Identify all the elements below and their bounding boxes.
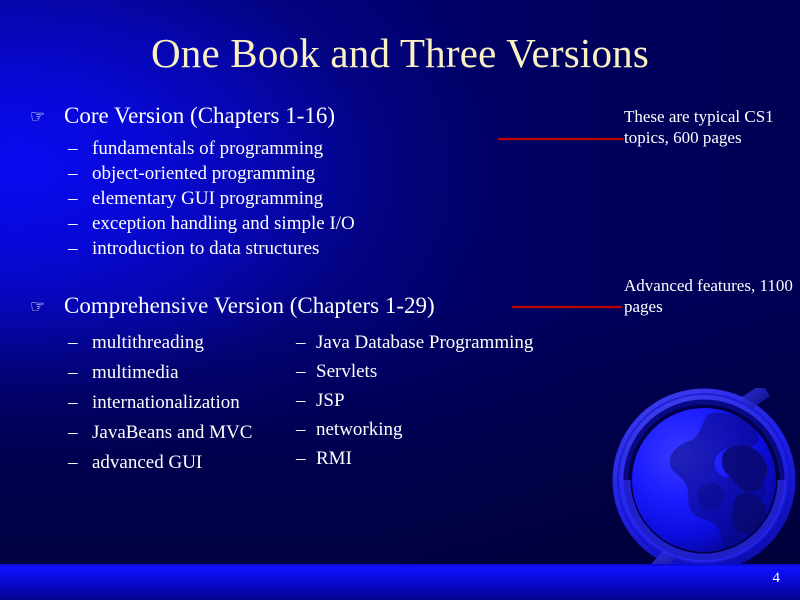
connector-line-comprehensive — [512, 306, 622, 308]
section-heading-label: Core Version (Chapters 1-16) — [64, 102, 335, 130]
section-heading-comprehensive-version: ☞ Comprehensive Version (Chapters 1-29) — [30, 292, 435, 320]
list-item: – networking — [296, 415, 533, 444]
list-item-label: advanced GUI — [92, 448, 202, 478]
list-item: – multithreading — [68, 328, 252, 358]
list-item-label: multithreading — [92, 328, 204, 358]
list-item: – exception handling and simple I/O — [68, 211, 355, 236]
footer-band — [0, 566, 800, 600]
list-item-label: introduction to data structures — [92, 236, 319, 261]
list-item-label: internationalization — [92, 388, 240, 418]
list-item: – introduction to data structures — [68, 236, 355, 261]
list-item: – internationalization — [68, 388, 252, 418]
section-heading-label: Comprehensive Version (Chapters 1-29) — [64, 292, 435, 320]
dash-icon: – — [68, 186, 78, 211]
list-item: – advanced GUI — [68, 448, 252, 478]
dash-icon: – — [68, 448, 78, 478]
dash-icon: – — [296, 444, 306, 473]
annotation-core-version: These are typical CS1 topics, 600 pages — [624, 106, 800, 148]
list-item-label: fundamentals of programming — [92, 136, 323, 161]
dash-icon: – — [296, 357, 306, 386]
dash-icon: – — [68, 388, 78, 418]
list-item-label: JavaBeans and MVC — [92, 418, 252, 448]
dash-icon: – — [68, 328, 78, 358]
list-item-label: networking — [316, 415, 403, 444]
list-item-label: object-oriented programming — [92, 161, 315, 186]
sublist-comprehensive-col2: – Java Database Programming – Servlets –… — [296, 328, 533, 473]
list-item-label: JSP — [316, 386, 345, 415]
slide-title: One Book and Three Versions — [0, 29, 800, 77]
list-item-label: Java Database Programming — [316, 328, 533, 357]
dash-icon: – — [296, 415, 306, 444]
dash-icon: – — [296, 328, 306, 357]
list-item: – RMI — [296, 444, 533, 473]
dash-icon: – — [68, 136, 78, 161]
list-item: – object-oriented programming — [68, 161, 355, 186]
sublist-comprehensive-col1: – multithreading – multimedia – internat… — [68, 328, 252, 478]
list-item-label: elementary GUI programming — [92, 186, 323, 211]
dash-icon: – — [68, 236, 78, 261]
list-item-label: RMI — [316, 444, 352, 473]
list-item: – Java Database Programming — [296, 328, 533, 357]
dash-icon: – — [68, 161, 78, 186]
sublist-core-version: – fundamentals of programming – object-o… — [68, 136, 355, 261]
hand-pointer-icon: ☞ — [30, 294, 45, 320]
presentation-slide: One Book and Three Versions ☞ Core Versi… — [0, 0, 800, 600]
list-item-label: exception handling and simple I/O — [92, 211, 355, 236]
list-item: – JavaBeans and MVC — [68, 418, 252, 448]
list-item: – elementary GUI programming — [68, 186, 355, 211]
annotation-comprehensive-version: Advanced features, 1100 pages — [624, 275, 800, 317]
list-item: – JSP — [296, 386, 533, 415]
dash-icon: – — [68, 211, 78, 236]
connector-line-core — [498, 138, 624, 140]
hand-pointer-icon: ☞ — [30, 104, 45, 130]
dash-icon: – — [296, 386, 306, 415]
dash-icon: – — [68, 418, 78, 448]
section-heading-core-version: ☞ Core Version (Chapters 1-16) — [30, 102, 335, 130]
list-item-label: Servlets — [316, 357, 377, 386]
list-item-label: multimedia — [92, 358, 179, 388]
list-item: – multimedia — [68, 358, 252, 388]
dash-icon: – — [68, 358, 78, 388]
page-number: 4 — [773, 568, 781, 588]
list-item: – fundamentals of programming — [68, 136, 355, 161]
list-item: – Servlets — [296, 357, 533, 386]
